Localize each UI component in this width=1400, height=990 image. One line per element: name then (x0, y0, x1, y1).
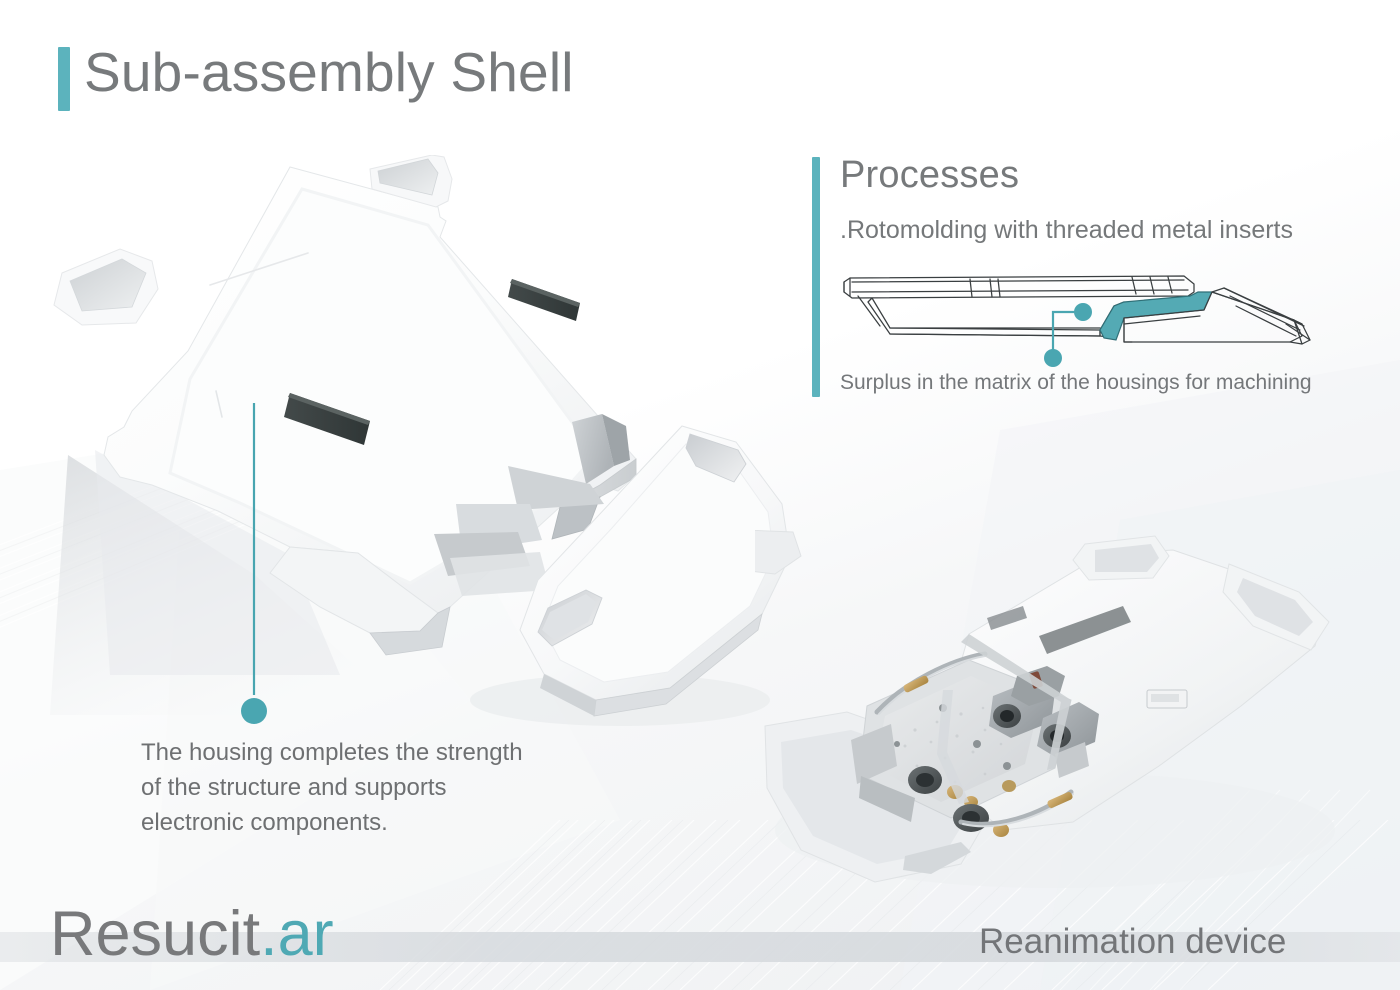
title-accent-bar (58, 47, 70, 111)
left-callout-leader (230, 395, 290, 725)
processes-diagram-caption: Surplus in the matrix of the housings fo… (840, 369, 1312, 397)
page-title: Sub-assembly Shell (84, 41, 574, 103)
processes-accent-bar (812, 157, 820, 397)
footer-project-label: Reanimation device (979, 920, 1286, 964)
brand-logo-suffix: .ar (260, 899, 334, 969)
processes-heading: Processes (840, 153, 1019, 197)
left-callout-text: The housing completes the strength of th… (141, 735, 541, 840)
brand-logo-primary: Resucit (50, 899, 260, 969)
cross-section-technical-drawing (832, 262, 1332, 372)
internal-components-render (755, 530, 1345, 900)
brand-logo: Resucit.ar (50, 899, 334, 969)
processes-bullet-rotomolding: .Rotomolding with threaded metal inserts (840, 214, 1293, 246)
slide-canvas: Sub-assembly Shell (0, 0, 1400, 990)
